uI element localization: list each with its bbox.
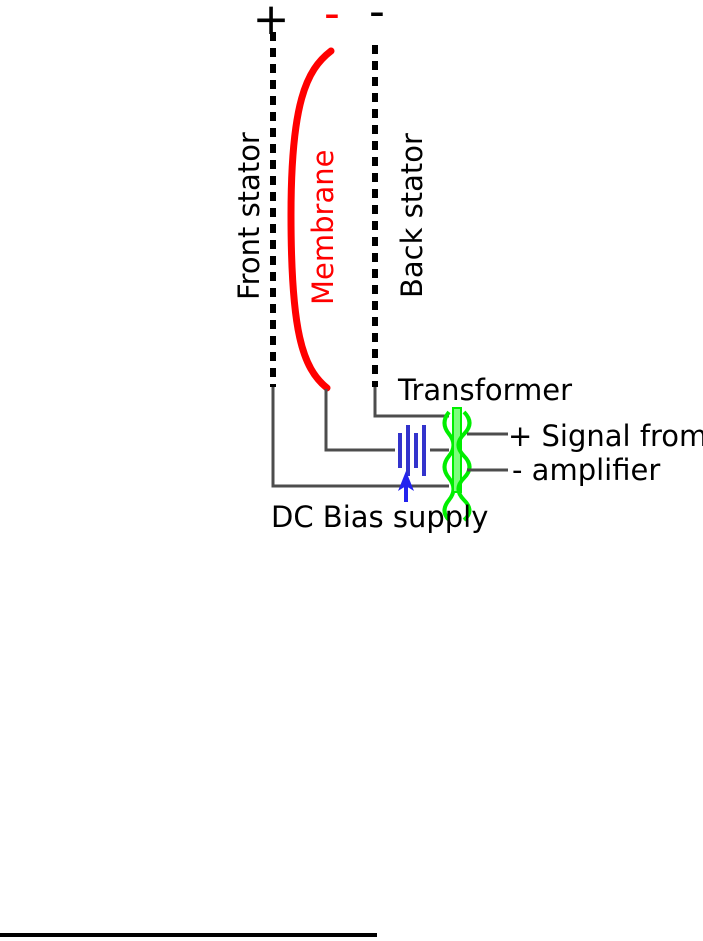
electrostatic-speaker-diagram: + - - Front stator Membrane Back stator … (0, 0, 703, 941)
dc-bias-pointer-arrow (398, 471, 414, 502)
front-stator-label: Front stator (232, 132, 266, 300)
back-stator-label: Back stator (395, 133, 429, 298)
diagram-canvas: + - - Front stator Membrane Back stator … (0, 0, 703, 941)
signal-plus-label: + Signal from (508, 419, 703, 453)
back-stator-minus-sign: - (369, 0, 385, 37)
dc-bias-label: DC Bias supply (271, 500, 488, 534)
membrane-label: Membrane (306, 150, 340, 305)
dc-bias-battery (400, 425, 424, 476)
transformer-label: Transformer (397, 373, 572, 407)
membrane-minus-sign: - (324, 0, 340, 39)
membrane-wire (326, 389, 395, 450)
front-stator-wire (273, 387, 395, 486)
signal-minus-label: - amplifier (512, 453, 660, 487)
